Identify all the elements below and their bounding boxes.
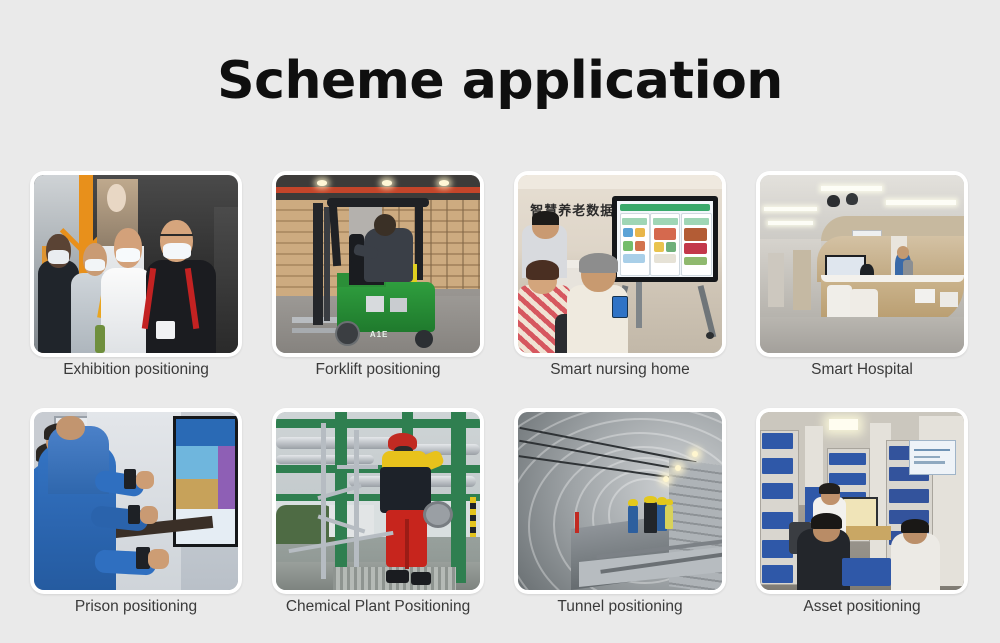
page-title: Scheme application — [0, 55, 1000, 107]
application-grid: Exhibition positioning — [30, 171, 970, 594]
application-card-nursing-home[interactable]: 智慧养老数据中心 — [514, 171, 726, 357]
forklift-thumbnail[interactable]: A1E — [272, 171, 484, 357]
tunnel-photo — [518, 412, 722, 590]
application-card-tunnel[interactable]: Tunnel positioning — [514, 408, 726, 594]
caption-asset: Asset positioning — [744, 598, 980, 616]
tunnel-thumbnail[interactable] — [514, 408, 726, 594]
application-card-asset[interactable]: Asset positioning — [756, 408, 968, 594]
caption-prison: Prison positioning — [18, 598, 254, 616]
caption-hospital: Smart Hospital — [744, 361, 980, 379]
caption-forklift: Forklift positioning — [260, 361, 496, 379]
application-card-exhibition[interactable]: Exhibition positioning — [30, 171, 242, 357]
caption-chemical-plant: Chemical Plant Positioning — [260, 598, 496, 616]
forklift-model-label: A1E — [370, 330, 389, 339]
hospital-thumbnail[interactable] — [756, 171, 968, 357]
hospital-photo — [760, 175, 964, 353]
asset-photo — [760, 412, 964, 590]
prison-thumbnail[interactable] — [30, 408, 242, 594]
nursing-home-photo: 智慧养老数据中心 — [518, 175, 722, 353]
caption-exhibition: Exhibition positioning — [18, 361, 254, 379]
application-card-prison[interactable]: Prison positioning — [30, 408, 242, 594]
application-card-hospital[interactable]: Smart Hospital — [756, 171, 968, 357]
chemical-plant-thumbnail[interactable] — [272, 408, 484, 594]
application-card-chemical-plant[interactable]: Chemical Plant Positioning — [272, 408, 484, 594]
prison-photo — [34, 412, 238, 590]
nursing-home-thumbnail[interactable]: 智慧养老数据中心 — [514, 171, 726, 357]
caption-nursing-home: Smart nursing home — [502, 361, 738, 379]
caption-tunnel: Tunnel positioning — [502, 598, 738, 616]
scheme-application-page: Scheme application — [0, 0, 1000, 643]
forklift-photo: A1E — [276, 175, 480, 353]
application-card-forklift[interactable]: A1E Forklift positioning — [272, 171, 484, 357]
asset-thumbnail[interactable] — [756, 408, 968, 594]
chemical-plant-photo — [276, 412, 480, 590]
exhibition-photo — [34, 175, 238, 353]
exhibition-thumbnail[interactable] — [30, 171, 242, 357]
